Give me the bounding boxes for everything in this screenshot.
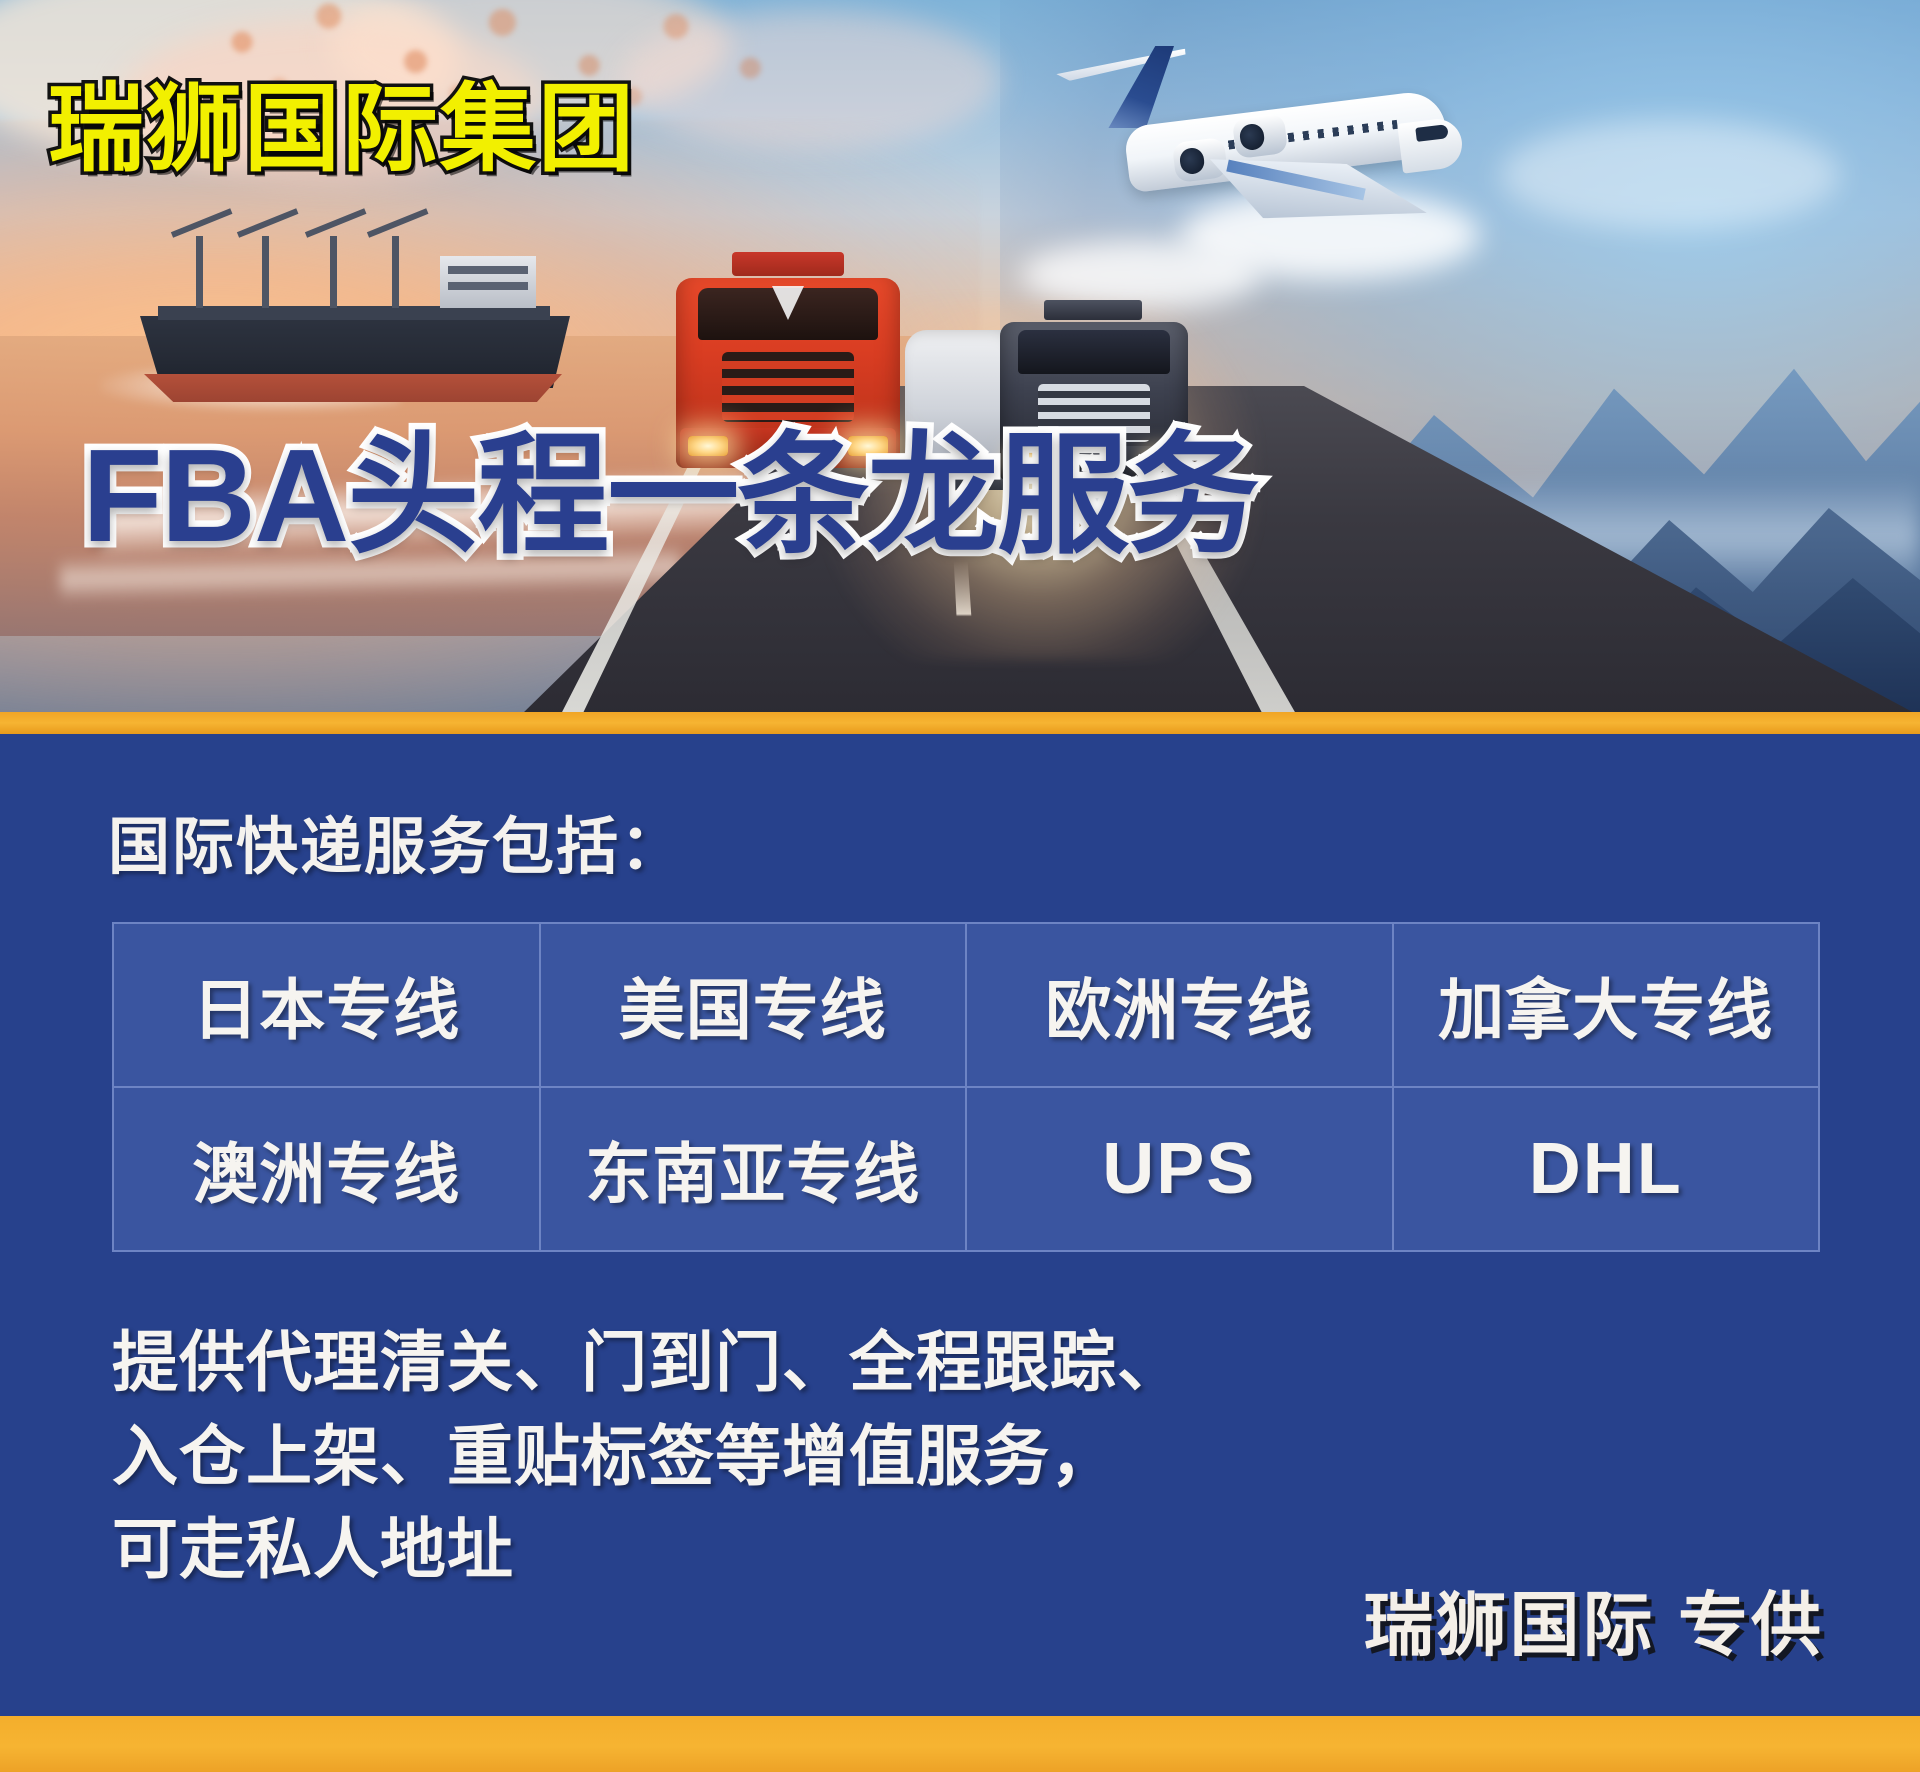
service-cell-europe[interactable]: 欧洲专线: [966, 923, 1393, 1087]
plane-tail-fin: [1096, 46, 1174, 128]
ship-deck: [158, 306, 550, 320]
table-row: 日本专线 美国专线 欧洲专线 加拿大专线: [113, 923, 1819, 1087]
ship-waterline: [144, 374, 562, 402]
cargo-ship-icon: [140, 236, 570, 406]
truck-windshield: [1018, 330, 1170, 374]
ship-superstructure: [440, 256, 536, 308]
info-panel: 国际快递服务包括： 日本专线 美国专线 欧洲专线 加拿大专线 澳洲专线 东南亚专…: [0, 734, 1920, 1716]
ship-crane: [262, 236, 269, 308]
service-cell-dhl[interactable]: DHL: [1393, 1087, 1820, 1251]
ship-crane: [330, 236, 337, 308]
service-cell-canada[interactable]: 加拿大专线: [1393, 923, 1820, 1087]
value-added-services-text: 提供代理清关、门到门、全程跟踪、 入仓上架、重贴标签等增值服务， 可走私人地址: [112, 1316, 1184, 1597]
services-table-body: 日本专线 美国专线 欧洲专线 加拿大专线 澳洲专线 东南亚专线 UPS DHL: [113, 923, 1819, 1251]
truck-grille: [722, 352, 854, 422]
gold-divider-bar: [0, 712, 1920, 734]
ship-crane: [196, 236, 203, 308]
footer-signature: 瑞狮国际 专供: [1364, 1569, 1824, 1670]
feature-line-2: 入仓上架、重贴标签等增值服务，: [112, 1410, 1184, 1504]
feature-line-1: 提供代理清关、门到门、全程跟踪、: [112, 1316, 1184, 1410]
service-cell-ups[interactable]: UPS: [966, 1087, 1393, 1251]
plane-engine: [1232, 113, 1288, 159]
service-cell-usa[interactable]: 美国专线: [540, 923, 967, 1087]
truck-roof-sign: [732, 252, 844, 276]
truck-roof-sign: [1044, 300, 1142, 320]
table-row: 澳洲专线 东南亚专线 UPS DHL: [113, 1087, 1819, 1251]
service-cell-southeast-asia[interactable]: 东南亚专线: [540, 1087, 967, 1251]
airplane-icon: [1048, 34, 1468, 224]
hero-image: 瑞狮国际集团 FBA头程一条龙服务: [0, 0, 1920, 716]
service-cell-australia[interactable]: 澳洲专线: [113, 1087, 540, 1251]
cloud-icon: [1500, 120, 1840, 230]
service-cell-japan[interactable]: 日本专线: [113, 923, 540, 1087]
feature-line-3: 可走私人地址: [112, 1503, 1184, 1597]
bottom-gold-bar: [0, 1716, 1920, 1772]
services-heading: 国际快递服务包括：: [108, 796, 684, 886]
company-logo-text: 瑞狮国际集团: [48, 82, 636, 178]
advertisement-banner: 瑞狮国际集团 FBA头程一条龙服务 国际快递服务包括： 日本专线 美国专线 欧洲…: [0, 0, 1920, 1772]
services-table: 日本专线 美国专线 欧洲专线 加拿大专线 澳洲专线 东南亚专线 UPS DHL: [112, 922, 1820, 1252]
hero-headline: FBA头程一条龙服务: [82, 430, 1257, 562]
ship-crane: [392, 236, 399, 308]
